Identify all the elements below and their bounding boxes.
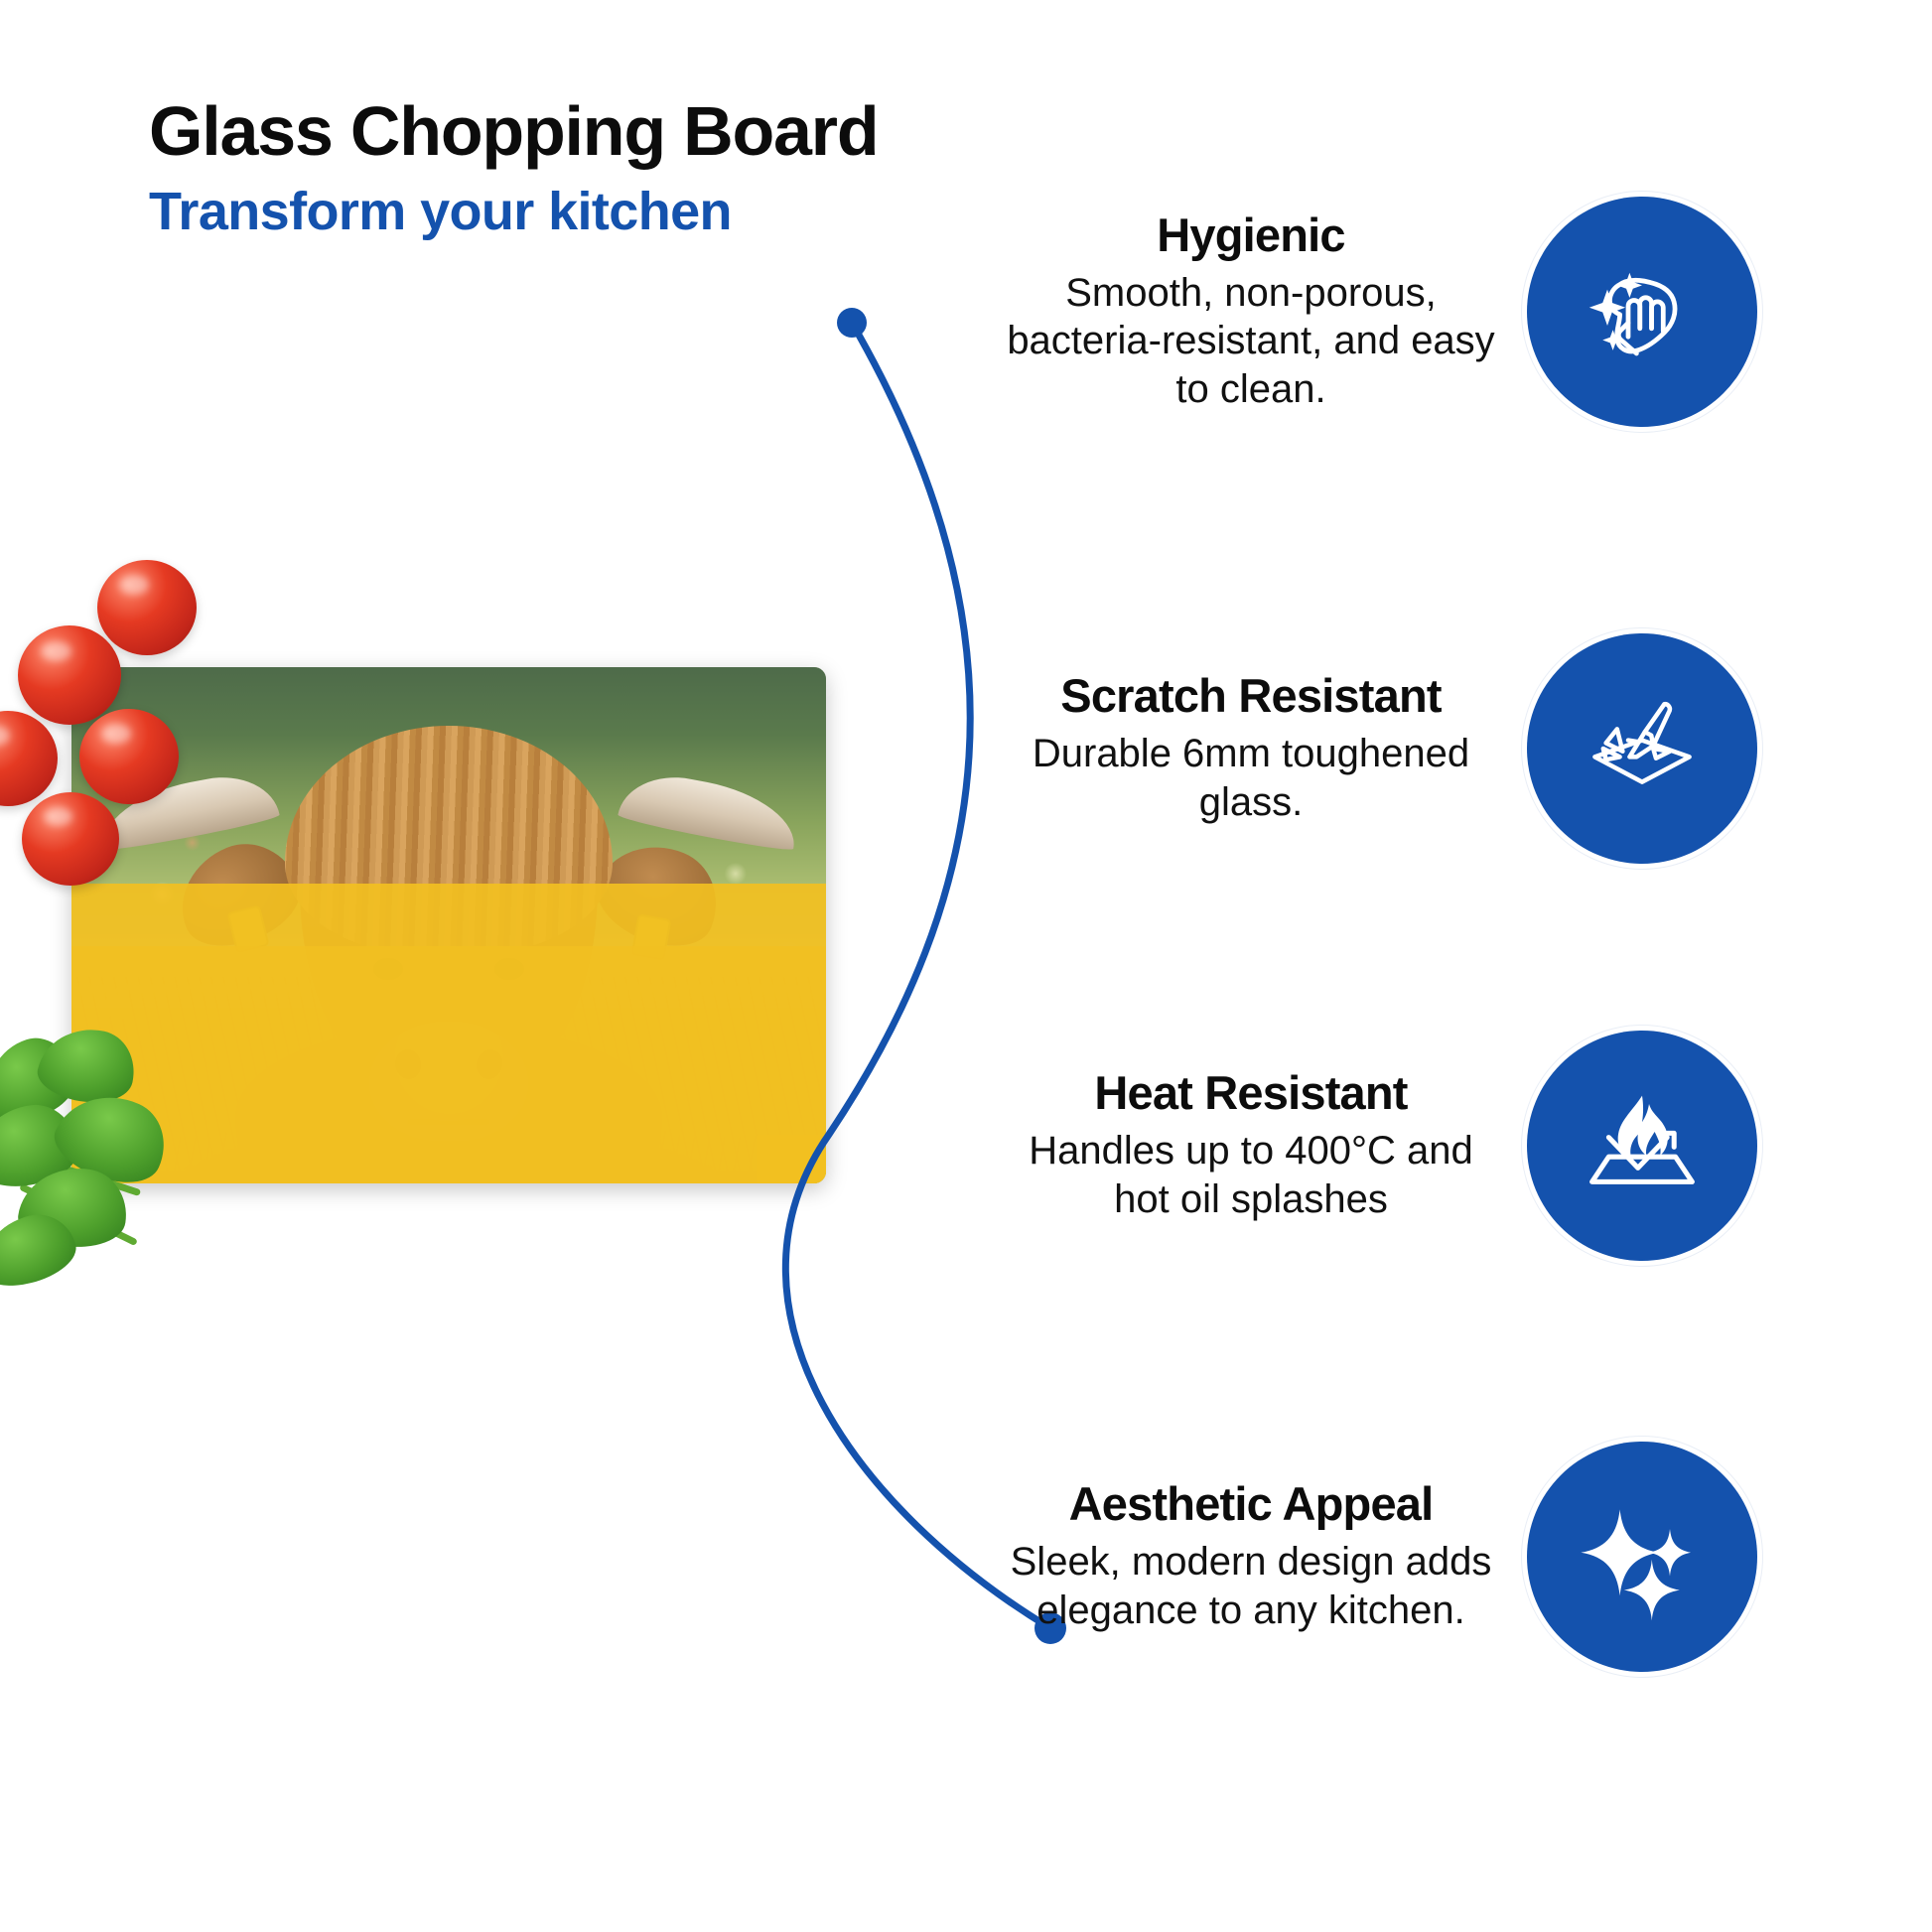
connector-dot-top	[837, 308, 867, 338]
tomato-3	[0, 711, 58, 806]
feature-aesthetic-appeal-title: Aesthetic Appeal	[1003, 1478, 1499, 1530]
feature-scratch-resistant-description: Durable 6mm toughened glass.	[1003, 730, 1499, 827]
hand-wipe-sparkle-icon	[1527, 197, 1757, 427]
feature-heat-resistant-title: Heat Resistant	[1003, 1067, 1499, 1119]
feature-heat-resistant-text: Heat Resistant Handles up to 400°C and h…	[1003, 1067, 1527, 1223]
feature-scratch-resistant-title: Scratch Resistant	[1003, 670, 1499, 722]
feature-aesthetic-appeal-description: Sleek, modern design adds elegance to an…	[1003, 1538, 1499, 1635]
feature-aesthetic-appeal: Aesthetic Appeal Sleek, modern design ad…	[1003, 1442, 1757, 1672]
sparkles-icon	[1527, 1442, 1757, 1672]
feature-hygienic-text: Hygienic Smooth, non-porous, bacteria-re…	[1003, 209, 1527, 414]
product-image-composite	[0, 596, 854, 1291]
feature-scratch-resistant: Scratch Resistant Durable 6mm toughened …	[1003, 633, 1757, 864]
feature-hygienic-description: Smooth, non-porous, bacteria-resistant, …	[1003, 269, 1499, 414]
feature-hygienic-title: Hygienic	[1003, 209, 1499, 261]
tomato-4	[79, 709, 179, 804]
tomato-1	[97, 560, 197, 655]
feature-heat-resistant-description: Handles up to 400°C and hot oil splashes	[1003, 1127, 1499, 1224]
flame-deflect-surface-icon	[1527, 1031, 1757, 1261]
feature-aesthetic-appeal-text: Aesthetic Appeal Sleek, modern design ad…	[1003, 1478, 1527, 1634]
tomato-5	[22, 792, 119, 886]
parsley-garnish	[0, 1023, 212, 1291]
tomato-2	[18, 625, 121, 725]
knife-impact-surface-icon	[1527, 633, 1757, 864]
feature-scratch-resistant-text: Scratch Resistant Durable 6mm toughened …	[1003, 670, 1527, 826]
feature-hygienic: Hygienic Smooth, non-porous, bacteria-re…	[1003, 197, 1757, 427]
feature-heat-resistant: Heat Resistant Handles up to 400°C and h…	[1003, 1031, 1757, 1261]
page-title: Glass Chopping Board	[149, 95, 1241, 169]
